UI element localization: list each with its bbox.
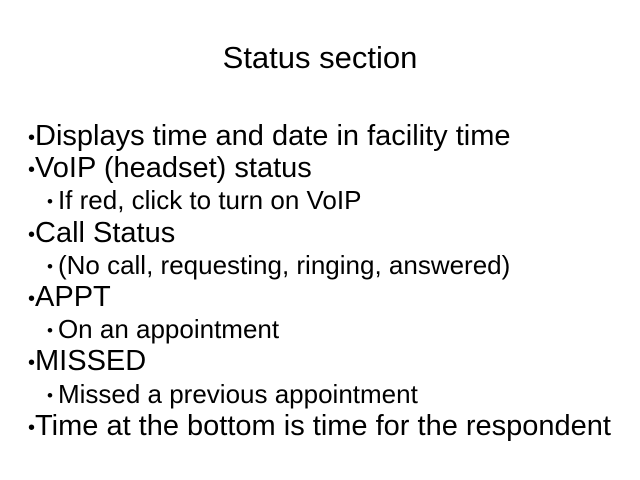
list-item-label: Displays time and date in facility time [35, 122, 510, 151]
bullet-point-icon: • [47, 187, 53, 216]
list-item: •MISSED [28, 347, 628, 379]
list-item: •APPT [28, 283, 628, 315]
list-item: •(No call, requesting, ringing, answered… [28, 251, 628, 283]
list-item-label: APPT [35, 283, 111, 312]
list-item: •If red, click to turn on VoIP [28, 186, 628, 218]
list-item-label: Time at the bottom is time for the respo… [35, 412, 611, 441]
page-title: Status section [0, 38, 640, 78]
list-item: •Call Status [28, 219, 628, 251]
bullet-point-icon: • [47, 381, 53, 410]
list-item-label: VoIP (headset) status [35, 154, 312, 183]
bullet-point-icon: • [28, 124, 35, 153]
bullet-point-icon: • [28, 414, 35, 443]
bullet-list: •Displays time and date in facility time… [28, 122, 628, 444]
list-item-label: On an appointment [58, 315, 279, 344]
list-item: •Time at the bottom is time for the resp… [28, 412, 628, 444]
bullet-point-icon: • [47, 252, 53, 281]
list-item-label: Call Status [35, 219, 175, 248]
list-item: •On an appointment [28, 315, 628, 347]
bullet-point-icon: • [28, 285, 35, 314]
bullet-point-icon: • [28, 221, 35, 250]
bullet-point-icon: • [28, 349, 35, 378]
list-item: •Displays time and date in facility time [28, 122, 628, 154]
list-item-label: If red, click to turn on VoIP [58, 186, 361, 215]
list-item-label: Missed a previous appointment [58, 380, 418, 409]
list-item: •VoIP (headset) status [28, 154, 628, 186]
presentation-slide: Status section •Displays time and date i… [0, 0, 640, 480]
bullet-point-icon: • [47, 316, 53, 345]
list-item-label: MISSED [35, 347, 146, 376]
bullet-point-icon: • [28, 156, 35, 185]
list-item: •Missed a previous appointment [28, 380, 628, 412]
list-item-label: (No call, requesting, ringing, answered) [58, 251, 510, 280]
